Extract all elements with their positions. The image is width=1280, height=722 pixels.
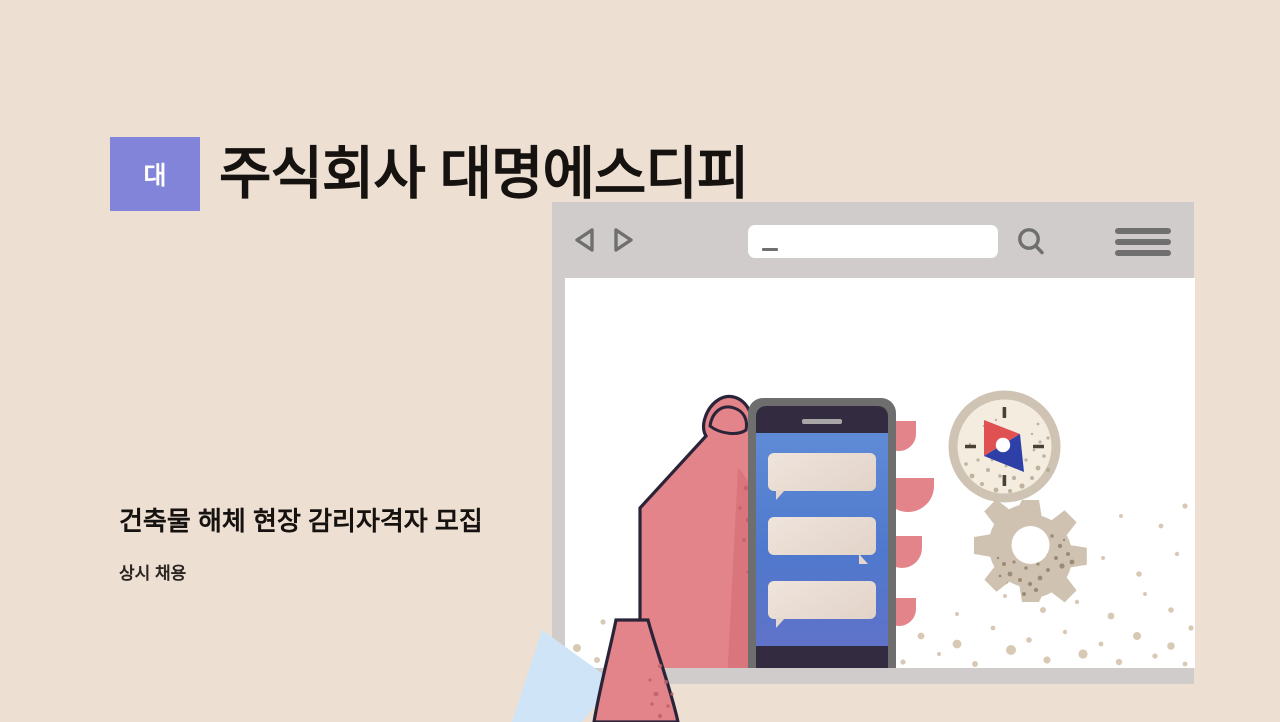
search-icon[interactable] <box>1012 223 1050 261</box>
compass-icon <box>948 390 1061 503</box>
forward-button[interactable] <box>610 226 636 254</box>
browser-toolbar <box>552 202 1194 278</box>
hand-holding-phone-illustration <box>660 308 960 668</box>
viewport-content-clip <box>565 278 1195 668</box>
gear-icon <box>974 496 1087 606</box>
phone-bezel <box>756 406 888 668</box>
smartphone <box>748 398 896 668</box>
hand-overflow-below-frame <box>552 660 832 722</box>
back-button[interactable] <box>572 226 598 254</box>
job-posting-card: 대 주식회사 대명에스디피 <box>0 0 1280 722</box>
phone-speaker <box>802 419 842 424</box>
employment-type-label: 상시 채용 <box>119 559 483 584</box>
browser-viewport <box>565 278 1195 668</box>
browser-mockup <box>552 202 1194 682</box>
hamburger-menu-icon[interactable] <box>1115 224 1171 260</box>
chat-bubble <box>768 581 876 619</box>
company-logo-badge: 대 <box>110 137 200 211</box>
chat-bubble <box>768 453 876 491</box>
thumbnail <box>710 407 747 434</box>
chat-bubble <box>768 517 876 555</box>
phone-screen <box>756 433 888 646</box>
company-header: 대 주식회사 대명에스디피 <box>110 137 748 211</box>
menu-bar <box>1115 228 1171 234</box>
job-info: 건축물 해체 현장 감리자격자 모집 상시 채용 <box>119 505 483 584</box>
navigation-arrows <box>572 226 636 254</box>
search-input[interactable] <box>748 225 998 258</box>
company-name: 주식회사 대명에스디피 <box>219 146 748 203</box>
text-caret <box>762 248 778 251</box>
menu-bar <box>1115 250 1171 256</box>
menu-bar <box>1115 239 1171 245</box>
job-title: 건축물 해체 현장 감리자격자 모집 <box>119 505 483 538</box>
